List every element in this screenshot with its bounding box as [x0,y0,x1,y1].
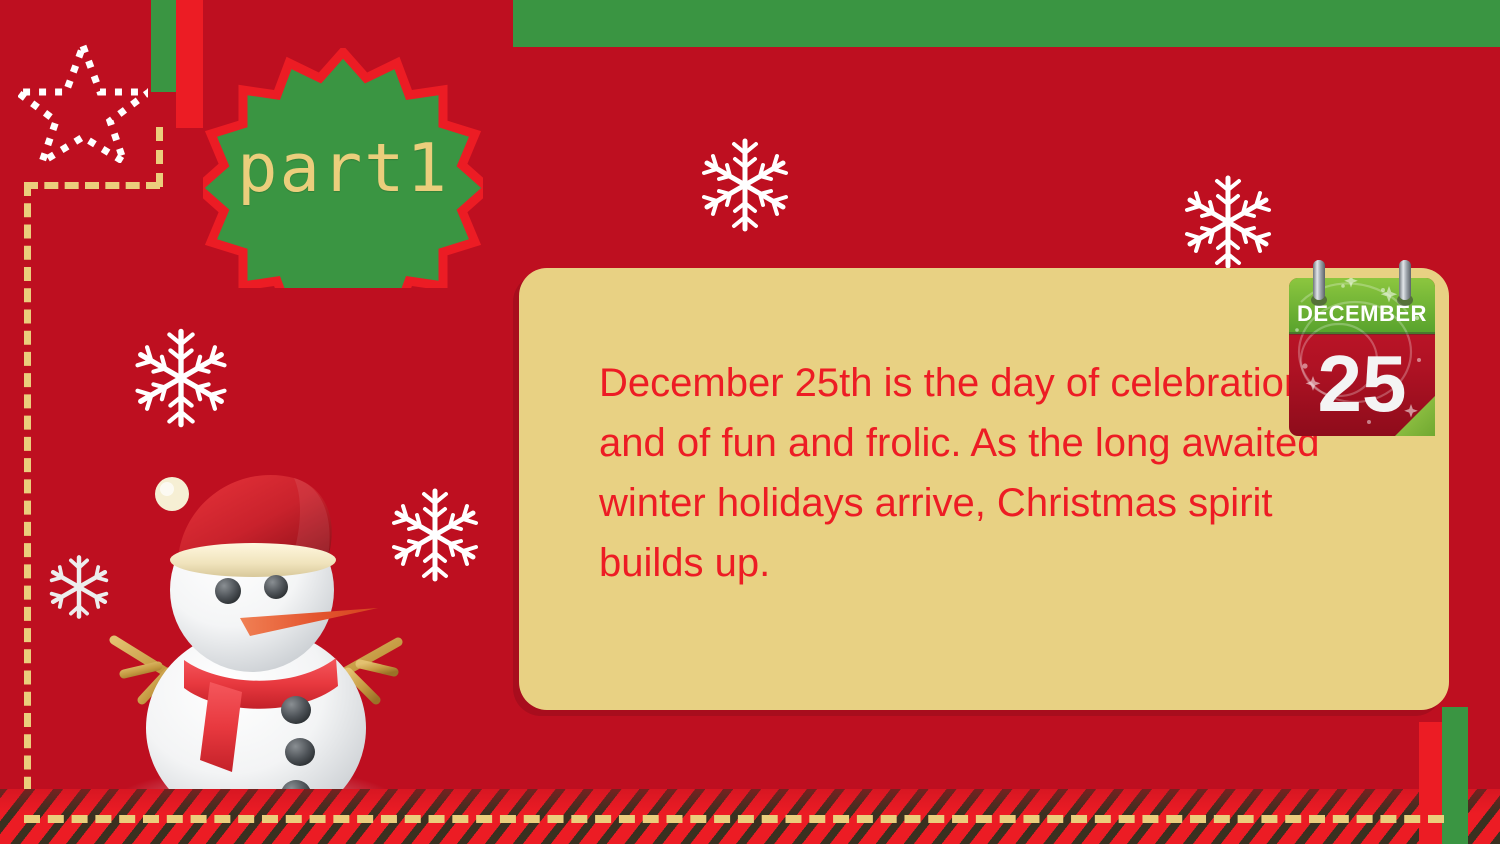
calendar-icon: DECEMBER 25 [1277,256,1447,452]
badge-label: part1 [203,48,483,288]
decor-bar-green-bottom-right [1442,707,1468,844]
dashed-guide-horizontal-upper [24,182,160,189]
calendar-ring-left [1311,260,1327,306]
dotted-star-icon [18,38,148,163]
snowflake-icon-left-mid [128,325,234,431]
snowflake-icon-right [1178,172,1278,272]
calendar-ring-right [1397,260,1413,306]
decor-bar-red-top-left [176,0,203,128]
dashed-guide-vertical-upper [156,127,163,187]
decor-bar-green-top-right [513,0,1500,47]
dashed-guide-vertical-left [24,182,31,812]
snowflake-icon-top-center [695,135,795,235]
decor-bar-red-bottom-right [1419,722,1444,844]
christmas-slide: part1 [0,0,1500,844]
decor-bar-green-top-left [151,0,176,92]
dashed-guide-horizontal-bottom [24,815,1444,823]
snowman-icon [80,460,420,832]
calendar-day-label: 25 [1318,339,1407,428]
card-body-text: December 25th is the day of celebration … [599,353,1339,593]
